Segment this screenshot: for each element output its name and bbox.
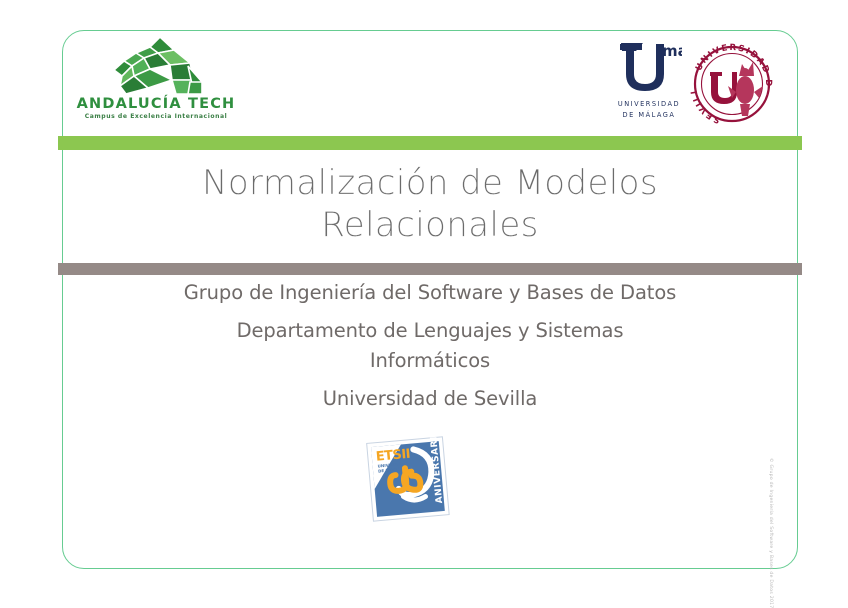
subtitle-spacer-1	[62, 308, 798, 316]
slide-root: ANDALUCÍA TECH Campus de Excelencia Inte…	[0, 0, 848, 599]
header-logo-band: ANDALUCÍA TECH Campus de Excelencia Inte…	[62, 30, 798, 136]
slide-title: Normalización de Modelos Relacionales	[62, 162, 798, 246]
taupe-divider-bar	[58, 263, 802, 275]
subtitle-spacer-2	[62, 376, 798, 384]
subtitle-line-2: Departamento de Lenguajes y Sistemas	[62, 316, 798, 346]
title-line-2: Relacionales	[62, 204, 798, 246]
vertical-credit-text: © Grupo de Ingeniería del Software y Bas…	[768, 458, 773, 578]
subtitle-line-3: Informáticos	[62, 346, 798, 376]
title-line-1: Normalización de Modelos	[62, 162, 798, 204]
green-divider-bar	[58, 136, 802, 150]
slide-subtitle: Grupo de Ingeniería del Software y Bases…	[62, 278, 798, 414]
subtitle-line-4: Universidad de Sevilla	[62, 384, 798, 414]
universidad-malaga-logo: ma UNIVERSIDAD DE MÁLAGA	[610, 38, 688, 130]
universidad-sevilla-seal-icon: UNIVERSIDAD DE SEVILLA	[690, 32, 774, 128]
subtitle-line-1: Grupo de Ingeniería del Software y Bases…	[62, 278, 798, 308]
svg-text:UNIVERSIDAD DE: UNIVERSIDAD DE	[690, 32, 773, 88]
uma-u-mark-icon: ma	[616, 38, 682, 96]
andalucia-tech-wordmark: ANDALUCÍA TECH	[72, 96, 240, 112]
uma-line-2: DE MÁLAGA	[610, 111, 688, 119]
andalucia-tech-tagline: Campus de Excelencia Internacional	[72, 113, 240, 120]
svg-text:ma: ma	[662, 42, 682, 60]
andalucia-tech-logo: ANDALUCÍA TECH Campus de Excelencia Inte…	[72, 36, 240, 134]
uma-line-1: UNIVERSIDAD	[610, 100, 688, 108]
andalucia-tech-mosaic-icon	[102, 36, 212, 98]
etsii-anniversary-badge-icon: ETSII UNIVERSIDAD DE SEVILLA ANIVERSARIO	[360, 434, 456, 526]
